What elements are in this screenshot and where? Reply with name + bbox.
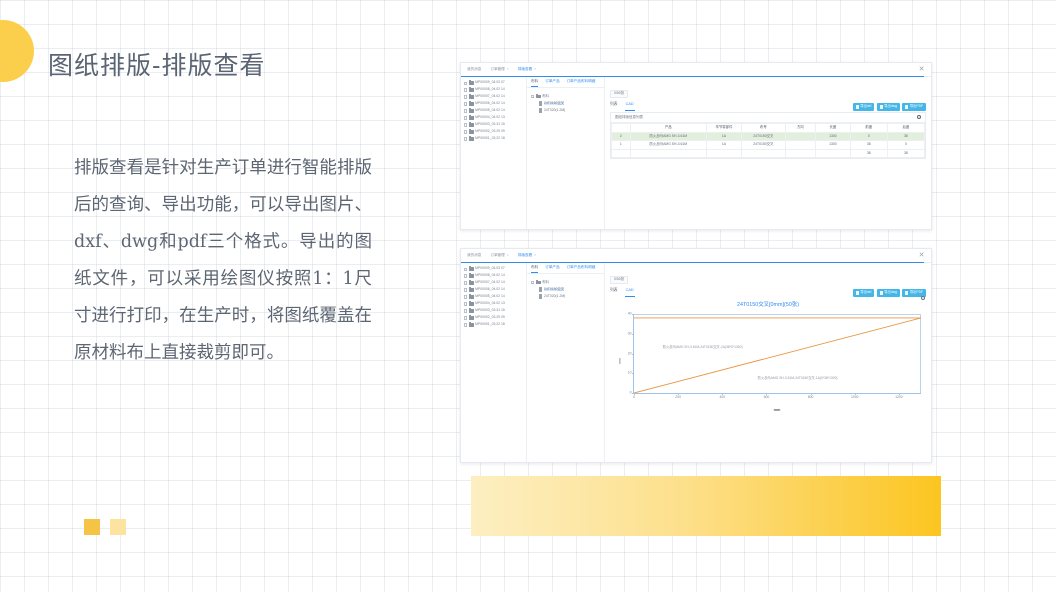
sub-tab-2[interactable]: 订单产品布料明细 <box>567 80 596 84</box>
folder-icon <box>469 309 474 313</box>
list-item[interactable]: MP00006_04.02 14 <box>464 287 526 293</box>
app-tab-bar: 我的消息 订单管理× 排版查看× ✕ <box>461 63 931 77</box>
chart-x-tick-label: 1200 <box>895 396 903 399</box>
tab-label: 列表 <box>610 288 618 292</box>
app-tab-layout-view[interactable]: 排版查看× <box>518 68 536 72</box>
chart-y-tick-label: 40 <box>628 313 632 316</box>
checkbox[interactable] <box>464 137 467 140</box>
app-tab-label: 订单管理 <box>490 253 504 257</box>
table-caption-label: 图纸排版信息列表 <box>615 115 643 119</box>
main-content-column: 0/50张 列表 CAD 导出dxf导出dwg导出PDF 图纸排版信息列表 <box>605 77 931 229</box>
table-column-header-4[interactable]: 方向 <box>785 124 815 132</box>
list-item[interactable]: MP00002_03.29 09 <box>464 129 526 135</box>
file-name-label: MP00004_04.02 13 <box>475 302 505 305</box>
folder-icon <box>469 130 474 134</box>
chart-x-tick-mark <box>766 393 767 395</box>
folder-icon <box>469 288 474 292</box>
download-icon <box>856 105 859 109</box>
table-total-cell <box>630 149 707 157</box>
list-item[interactable]: MP00007_04.02 14 <box>464 94 526 100</box>
export-button-label: 导出PDF <box>910 105 923 108</box>
file-icon <box>539 287 542 291</box>
decorative-square-light <box>110 519 126 535</box>
file-list-column[interactable]: MP00009_04.03 07MP00008_04.02 14MP00007_… <box>461 77 527 229</box>
chart-series-svg <box>634 314 921 393</box>
table-total-cell <box>741 149 785 157</box>
export-button-label: 导出dwg <box>884 105 897 108</box>
folder-icon <box>469 88 474 92</box>
sub-tab-0[interactable]: 布料 <box>531 266 538 270</box>
chart-annotation-1: 防火战马AMG SH-3.61M-24T0150交叉-1A(0*38*1300) <box>758 377 838 380</box>
file-name-label: MP00005_04.02 14 <box>475 109 505 112</box>
list-item[interactable]: MP00009_04.03 07 <box>464 80 526 86</box>
list-item[interactable]: MP00008_04.02 14 <box>464 273 526 279</box>
chart-x-axis-label: mm <box>774 408 781 412</box>
main-header: 0/50张 <box>605 77 931 99</box>
table-totals-row: 3838 <box>612 149 925 157</box>
app-tab-label: 排版查看 <box>518 67 532 71</box>
file-name-label: MP00005_04.02 14 <box>475 295 505 298</box>
checkbox[interactable] <box>464 302 467 305</box>
file-name-label: MP00002_03.29 09 <box>475 316 505 319</box>
table-column-header-1[interactable]: 产品 <box>630 124 707 132</box>
footer-accent-band <box>471 476 941 536</box>
folder-icon <box>469 316 474 320</box>
checkbox[interactable] <box>464 274 467 277</box>
table-column-header-7[interactable]: 后度 <box>887 124 924 132</box>
list-item[interactable]: MP00003_03.31 15 <box>464 308 526 314</box>
file-name-label: MP00003_03.31 15 <box>475 309 505 312</box>
screenshot-panel-cad: 我的消息 订单管理× 排版查看× ✕ MP00009_04.03 07MP000… <box>460 248 932 463</box>
list-item[interactable]: MP00004_04.02 13 <box>464 301 526 307</box>
app-tab-label: 我的消息 <box>467 67 481 71</box>
file-icon <box>539 294 542 298</box>
sheet-count-badge: 0/50张 <box>610 90 628 98</box>
view-tab-bar: 列表 CAD 导出dxf导出dwg导出PDF <box>605 285 931 293</box>
tree-child-label: 24T0150交叉 <box>544 288 564 291</box>
list-item[interactable]: MP00005_04.02 14 <box>464 108 526 114</box>
table-cell: 防火战马AMG SH-3.61M <box>630 141 707 149</box>
folder-icon <box>536 281 541 285</box>
checkbox[interactable] <box>464 295 467 298</box>
folder-icon <box>469 267 474 271</box>
chart-y-tick-label: 10 <box>628 372 632 375</box>
tab-label: CAD <box>626 288 634 292</box>
chart-x-tick-mark <box>811 393 812 395</box>
folder-icon <box>469 323 474 327</box>
table-column-header-3[interactable]: 布号 <box>741 124 785 132</box>
tree-area: − 布料 24T0150交叉 24T020(1.2M) <box>527 88 604 114</box>
chart-x-tick-mark <box>722 393 723 395</box>
table-caption: 图纸排版信息列表 <box>611 113 925 124</box>
table-column-header-2[interactable]: 毕节零部件 <box>707 124 742 132</box>
list-item[interactable]: MP00005_04.02 14 <box>464 294 526 300</box>
table-body: 2防火战马AMG SH-3.61M1A24T0150交叉13000381防火战马… <box>612 132 925 157</box>
list-item[interactable]: MP00008_04.02 14 <box>464 87 526 93</box>
screenshot-panel-list: 我的消息 订单管理× 排版查看× ✕ MP00009_04.03 07MP000… <box>460 62 932 230</box>
gear-icon[interactable] <box>917 115 921 119</box>
checkbox[interactable] <box>464 130 467 133</box>
table-total-cell <box>816 149 851 157</box>
file-name-label: MP00007_04.02 14 <box>475 95 505 98</box>
sub-tab-bar: 布料订单产品订单产品布料明细 <box>527 263 604 274</box>
decorative-square-dark <box>84 519 100 535</box>
tree-child-row[interactable]: 24T020(1.2M) <box>531 293 604 300</box>
list-item[interactable]: MP00009_04.03 07 <box>464 266 526 272</box>
close-icon[interactable]: × <box>534 67 536 71</box>
checkbox[interactable] <box>464 95 467 98</box>
folder-icon <box>469 81 474 85</box>
file-icon <box>539 108 542 112</box>
file-icon <box>539 101 542 105</box>
gear-icon[interactable] <box>921 296 925 300</box>
chart-x-tick-mark <box>855 393 856 395</box>
folder-icon <box>469 102 474 106</box>
chart-series-line <box>634 318 921 393</box>
list-item[interactable]: MP00006_04.02 14 <box>464 101 526 107</box>
tab-cad[interactable]: CAD <box>626 103 634 107</box>
slide-body-text: 排版查看是针对生产订单进行智能排版后的查询、导出功能，可以导出图片、dxf、dw… <box>74 150 372 372</box>
sub-tab-2[interactable]: 订单产品布料明细 <box>567 266 596 270</box>
sub-tab-1[interactable]: 订单产品 <box>545 266 559 270</box>
checkbox[interactable] <box>464 82 467 85</box>
export-button-group: 导出dxf导出dwg导出PDF <box>853 103 926 111</box>
export-button-2[interactable]: 导出PDF <box>902 103 926 111</box>
file-name-label: MP00002_03.29 09 <box>475 130 505 133</box>
tree-child-label: 24T020(1.2M) <box>544 295 565 298</box>
close-icon[interactable]: × <box>507 253 509 257</box>
chart-x-tick-label: 0 <box>633 396 635 399</box>
chart-annotation-0: 防火战马AMG SH-3.61M-24T0150交叉-1A(38*0*1300) <box>663 346 743 349</box>
table-total-cell <box>707 149 742 157</box>
list-item[interactable]: MP00002_03.29 09 <box>464 315 526 321</box>
checkbox[interactable] <box>464 268 467 271</box>
folder-icon <box>469 274 474 278</box>
close-icon[interactable]: × <box>534 253 536 257</box>
main-header: 0/50张 <box>605 263 931 285</box>
app-tab-messages[interactable]: 我的消息 <box>467 68 481 72</box>
chart-y-tick-mark <box>632 354 634 355</box>
chart-y-tick-mark <box>632 314 634 315</box>
tab-label: 列表 <box>610 102 618 106</box>
folder-icon <box>469 302 474 306</box>
download-icon <box>880 105 883 109</box>
file-list-column[interactable]: MP00009_04.03 07MP00008_04.02 14MP00007_… <box>461 263 527 462</box>
tree-child-label: 24T0150交叉 <box>544 102 564 105</box>
export-button-1[interactable]: 导出dwg <box>877 103 900 111</box>
table-cell: 防火战马AMG SH-3.61M <box>630 132 707 140</box>
layout-table: 图纸排版信息列表 产品毕节零部件布号方向长度前度后度 2防火战马AMG SH-3… <box>610 112 926 159</box>
table-cell: 1A <box>707 141 742 149</box>
tree-root-label: 布料 <box>542 281 549 284</box>
tree-child-row[interactable]: 24T0150交叉 <box>531 100 604 107</box>
table-cell: 1A <box>707 132 742 140</box>
cad-canvas-area[interactable]: 24T0150交叉[0mm](50张) mm 01020304002004006… <box>605 293 931 462</box>
app-tab-label: 订单管理 <box>490 67 504 71</box>
tree-child-row[interactable]: 24T020(1.2M) <box>531 107 604 114</box>
sub-tab-bar: 布料订单产品订单产品布料明细 <box>527 77 604 88</box>
chart-plot-area: 010203040020040060080010001200防火战马AMG SH… <box>633 314 921 394</box>
chart-y-tick-mark <box>632 373 634 374</box>
close-icon[interactable]: × <box>507 67 509 71</box>
folder-icon <box>469 281 474 285</box>
tree-area: − 布料 24T0150交叉 24T020(1.2M) <box>527 274 604 300</box>
chart-x-tick-label: 200 <box>675 396 681 399</box>
table-cell <box>785 141 815 149</box>
chart-y-tick-label: 30 <box>628 332 632 335</box>
table-total-cell: 38 <box>850 149 887 157</box>
decorative-circle <box>0 20 34 82</box>
chart-x-tick-label: 800 <box>808 396 814 399</box>
file-name-label: MP00003_03.31 15 <box>475 123 505 126</box>
sheet-count-badge: 0/50张 <box>610 276 628 284</box>
panel-body: MP00009_04.03 07MP00008_04.02 14MP00007_… <box>461 263 931 462</box>
table-cell <box>785 132 815 140</box>
chart-x-tick-mark <box>634 393 635 395</box>
app-tab-bar: 我的消息 订单管理× 排版查看× ✕ <box>461 249 931 263</box>
list-item[interactable]: MP00001_03.22 18 <box>464 136 526 142</box>
view-tab-bar: 列表 CAD 导出dxf导出dwg导出PDF <box>605 99 931 107</box>
app-tab-label: 我的消息 <box>467 253 481 257</box>
export-button-0[interactable]: 导出dxf <box>853 103 874 111</box>
table-total-cell <box>612 149 631 157</box>
app-tab-order-management[interactable]: 订单管理× <box>490 254 508 258</box>
checkbox[interactable] <box>464 281 467 284</box>
chart-plot-box: mm 010203040020040060080010001200防火战马AMG… <box>633 314 921 408</box>
table-total-cell: 38 <box>887 149 924 157</box>
table-row[interactable]: 2防火战马AMG SH-3.61M1A24T0150交叉1300038 <box>612 132 925 140</box>
file-name-label: MP00006_04.02 14 <box>475 102 505 105</box>
tree-child-label: 24T020(1.2M) <box>544 109 565 112</box>
checkbox[interactable] <box>464 323 467 326</box>
tab-list[interactable]: 列表 <box>610 103 618 107</box>
file-name-label: MP00006_04.02 14 <box>475 288 505 291</box>
file-name-label: MP00001_03.22 18 <box>475 137 505 140</box>
chart-y-tick-label: 20 <box>628 352 632 355</box>
folder-icon <box>536 95 541 99</box>
file-name-label: MP00004_04.02 13 <box>475 116 505 119</box>
chart-y-tick-mark <box>632 334 634 335</box>
cloth-tree-column: 布料订单产品订单产品布料明细 − 布料 24T0150交叉 24T020(1.2… <box>527 77 605 229</box>
table-header-row: 产品毕节零部件布号方向长度前度后度 <box>612 124 925 132</box>
chart-x-tick-mark <box>899 393 900 395</box>
list-item[interactable]: MP00003_03.31 15 <box>464 122 526 128</box>
tree-root-label: 布料 <box>542 95 549 98</box>
sub-tab-0[interactable]: 布料 <box>531 80 538 84</box>
table-cell: 1 <box>612 141 631 149</box>
checkbox[interactable] <box>464 88 467 91</box>
checkbox[interactable] <box>464 109 467 112</box>
file-name-label: MP00008_04.02 14 <box>475 274 505 277</box>
chart-y-tick-label: 0 <box>630 392 632 395</box>
download-icon <box>905 105 908 109</box>
tab-label: CAD <box>626 102 634 106</box>
page-title: 图纸排版-排版查看 <box>48 46 265 82</box>
checkbox[interactable] <box>464 316 467 319</box>
checkbox[interactable] <box>464 123 467 126</box>
file-name-label: MP00001_03.22 18 <box>475 323 505 326</box>
chart-y-axis-label: mm <box>618 358 622 364</box>
table-row[interactable]: 1防火战马AMG SH-3.61M1A24T0150交叉1300380 <box>612 141 925 149</box>
file-name-label: MP00009_04.03 07 <box>475 267 505 270</box>
data-grid: 产品毕节零部件布号方向长度前度后度 2防火战马AMG SH-3.61M1A24T… <box>611 123 925 158</box>
table-cell: 38 <box>887 132 924 140</box>
file-name-label: MP00008_04.02 14 <box>475 88 505 91</box>
folder-icon <box>469 137 474 141</box>
chart-x-tick-label: 400 <box>719 396 725 399</box>
table-column-header-0[interactable] <box>612 124 631 132</box>
chevron-collapse-icon[interactable]: − <box>531 281 534 284</box>
export-button-label: 导出dxf <box>860 105 871 108</box>
folder-icon <box>469 116 474 120</box>
app-tab-order-management[interactable]: 订单管理× <box>490 68 508 72</box>
table-cell: 24T0150交叉 <box>741 141 785 149</box>
chart-title: 24T0150交叉[0mm](50张) <box>611 303 925 308</box>
table-cell: 38 <box>850 141 887 149</box>
chart-x-tick-label: 600 <box>764 396 770 399</box>
folder-icon <box>469 295 474 299</box>
table-cell: 0 <box>887 141 924 149</box>
app-tab-label: 排版查看 <box>518 253 532 257</box>
checkbox[interactable] <box>464 102 467 105</box>
list-item[interactable]: MP00001_03.22 18 <box>464 322 526 328</box>
list-item[interactable]: MP00007_04.02 14 <box>464 280 526 286</box>
main-content-column: 0/50张 列表 CAD 导出dxf导出dwg导出PDF 24T0150交叉[0… <box>605 263 931 462</box>
folder-icon <box>469 123 474 127</box>
close-icon[interactable]: ✕ <box>918 66 925 73</box>
panel-body: MP00009_04.03 07MP00008_04.02 14MP00007_… <box>461 77 931 229</box>
chevron-collapse-icon[interactable]: − <box>531 95 534 98</box>
table-cell: 1300 <box>816 141 851 149</box>
app-tab-layout-view[interactable]: 排版查看× <box>518 254 536 258</box>
file-name-label: MP00009_04.03 07 <box>475 81 505 84</box>
cloth-tree-column: 布料订单产品订单产品布料明细 − 布料 24T0150交叉 24T020(1.2… <box>527 263 605 462</box>
table-column-header-6[interactable]: 前度 <box>850 124 887 132</box>
table-column-header-5[interactable]: 长度 <box>816 124 851 132</box>
sub-tab-1[interactable]: 订单产品 <box>545 80 559 84</box>
folder-icon <box>469 95 474 99</box>
table-cell: 2 <box>612 132 631 140</box>
list-item[interactable]: MP00004_04.02 13 <box>464 115 526 121</box>
tree-root-row[interactable]: − 布料 <box>531 93 604 100</box>
close-icon[interactable]: ✕ <box>918 252 925 259</box>
chart-x-tick-label: 1000 <box>851 396 859 399</box>
table-cell: 24T0150交叉 <box>741 132 785 140</box>
folder-icon <box>469 109 474 113</box>
checkbox[interactable] <box>464 309 467 312</box>
checkbox[interactable] <box>464 288 467 291</box>
checkbox[interactable] <box>464 116 467 119</box>
app-tab-messages[interactable]: 我的消息 <box>467 254 481 258</box>
table-cell: 0 <box>850 132 887 140</box>
tree-root-row[interactable]: − 布料 <box>531 279 604 286</box>
chart-x-tick-mark <box>678 393 679 395</box>
tree-child-row[interactable]: 24T0150交叉 <box>531 286 604 293</box>
table-cell: 1300 <box>816 132 851 140</box>
table-total-cell <box>785 149 815 157</box>
file-name-label: MP00007_04.02 14 <box>475 281 505 284</box>
